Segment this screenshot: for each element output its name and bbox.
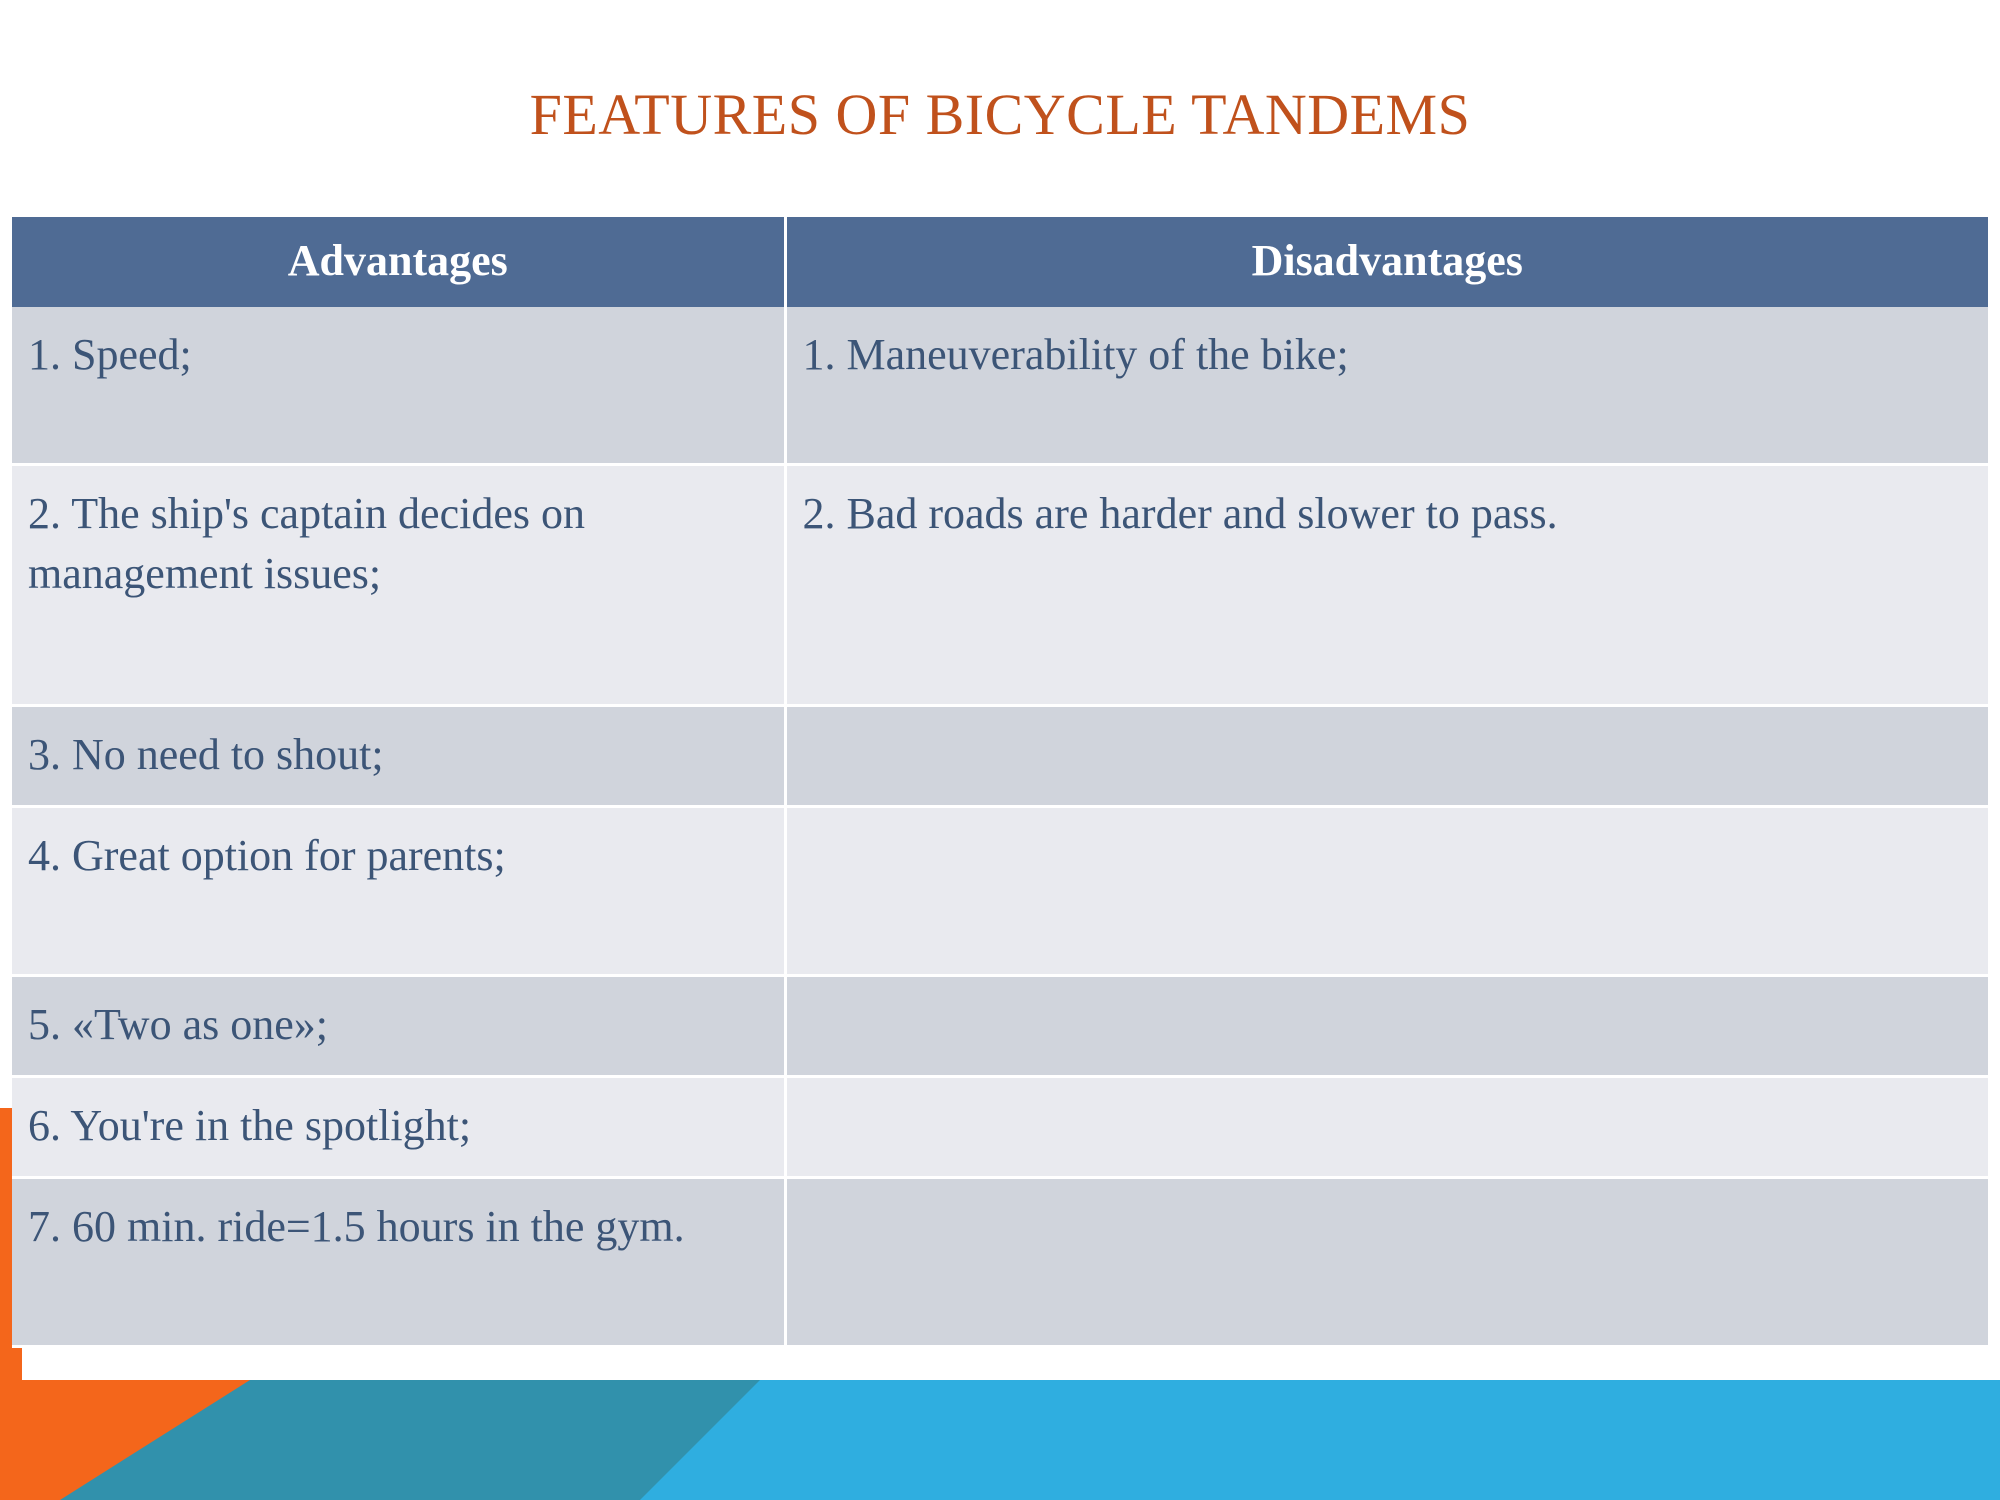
table-row: 1. Speed; 1. Maneuverability of the bike…: [12, 307, 1988, 465]
cell-disadvantage-3: [785, 706, 1988, 807]
column-header-disadvantages: Disadvantages: [785, 217, 1988, 307]
slide-canvas: Features of bicycle tandems Advantages D…: [0, 0, 2000, 1500]
table-row: 7. 60 min. ride=1.5 hours in the gym.: [12, 1178, 1988, 1347]
table-row: 2. The ship's captain decides on managem…: [12, 465, 1988, 706]
cell-disadvantage-2: 2. Bad roads are harder and slower to pa…: [785, 465, 1988, 706]
cell-advantage-4: 4. Great option for parents;: [12, 807, 785, 976]
cell-advantage-6: 6. You're in the spotlight;: [12, 1077, 785, 1178]
cell-advantage-3: 3. No need to shout;: [12, 706, 785, 807]
cell-disadvantage-1: 1. Maneuverability of the bike;: [785, 307, 1988, 465]
bottom-decoration-banner: [0, 1380, 2000, 1500]
cell-advantage-5: 5. «Two as one»;: [12, 976, 785, 1077]
cell-advantage-1: 1. Speed;: [12, 307, 785, 465]
cell-disadvantage-6: [785, 1077, 1988, 1178]
cyan-band-shape: [640, 1380, 2000, 1500]
orange-triangle-shape: [0, 1380, 250, 1500]
cell-advantage-7: 7. 60 min. ride=1.5 hours in the gym.: [12, 1178, 785, 1347]
cell-disadvantage-5: [785, 976, 1988, 1077]
table-header-row: Advantages Disadvantages: [12, 217, 1988, 307]
table-row: 5. «Two as one»;: [12, 976, 1988, 1077]
cell-disadvantage-7: [785, 1178, 1988, 1347]
cell-advantage-2: 2. The ship's captain decides on managem…: [12, 465, 785, 706]
column-header-advantages: Advantages: [12, 217, 785, 307]
features-table: Advantages Disadvantages 1. Speed; 1. Ma…: [12, 217, 1988, 1348]
cell-disadvantage-4: [785, 807, 1988, 976]
teal-band-shape: [0, 1380, 2000, 1500]
page-title: Features of bicycle tandems: [0, 82, 2000, 148]
table-row: 6. You're in the spotlight;: [12, 1077, 1988, 1178]
table-row: 3. No need to shout;: [12, 706, 1988, 807]
table-row: 4. Great option for parents;: [12, 807, 1988, 976]
